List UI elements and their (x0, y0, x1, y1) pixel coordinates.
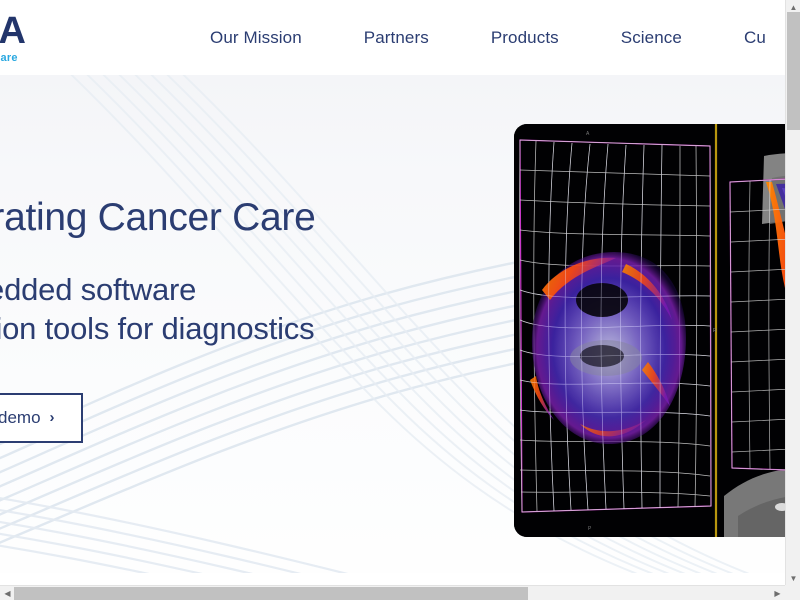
scroll-left-arrow-icon[interactable]: ◀ (0, 586, 15, 600)
chevron-right-icon: › (50, 409, 55, 426)
vertical-scrollbar-thumb[interactable] (787, 12, 800, 130)
hero-subheadline-line-1: bedded software (0, 271, 530, 310)
nav-item-customers[interactable]: Cu (744, 28, 766, 48)
book-demo-label: demo (0, 408, 41, 428)
hero-subheadline: bedded software ation tools for diagnost… (0, 271, 530, 349)
horizontal-scrollbar-thumb[interactable] (14, 587, 528, 600)
nav-item-products[interactable]: Products (491, 28, 559, 48)
hero-subheadline-line-2: ation tools for diagnostics (0, 310, 530, 349)
deformable-registration-visualization: A P R (514, 124, 785, 537)
site-logo[interactable]: DA cer Care (0, 13, 112, 63)
page-content: DA cer Care Our Mission Partners Product… (0, 0, 785, 573)
browser-viewport: DA cer Care Our Mission Partners Product… (0, 0, 785, 573)
logo-tagline: cer Care (0, 53, 112, 64)
nav-item-science[interactable]: Science (621, 28, 682, 48)
scrollbar-corner (785, 585, 800, 600)
scroll-down-arrow-icon[interactable]: ▼ (786, 571, 800, 585)
svg-text:R: R (713, 328, 717, 334)
nav-item-our-mission[interactable]: Our Mission (210, 28, 302, 48)
horizontal-scrollbar[interactable]: ◀ ▶ (0, 585, 785, 600)
hero-headline: erating Cancer Care (0, 195, 530, 241)
logo-wordmark: DA (0, 12, 112, 50)
book-demo-button[interactable]: demo › (0, 393, 83, 443)
hero-medical-image: A P R (514, 124, 785, 537)
nav-item-partners[interactable]: Partners (364, 28, 429, 48)
site-header: DA cer Care Our Mission Partners Product… (0, 0, 785, 75)
scroll-right-arrow-icon[interactable]: ▶ (770, 586, 785, 600)
hero-section: erating Cancer Care bedded software atio… (0, 75, 785, 573)
hero-copy: erating Cancer Care bedded software atio… (0, 195, 530, 443)
main-navigation: Our Mission Partners Products Science Cu (210, 0, 766, 75)
vertical-scrollbar[interactable]: ▲ ▼ (785, 0, 800, 585)
